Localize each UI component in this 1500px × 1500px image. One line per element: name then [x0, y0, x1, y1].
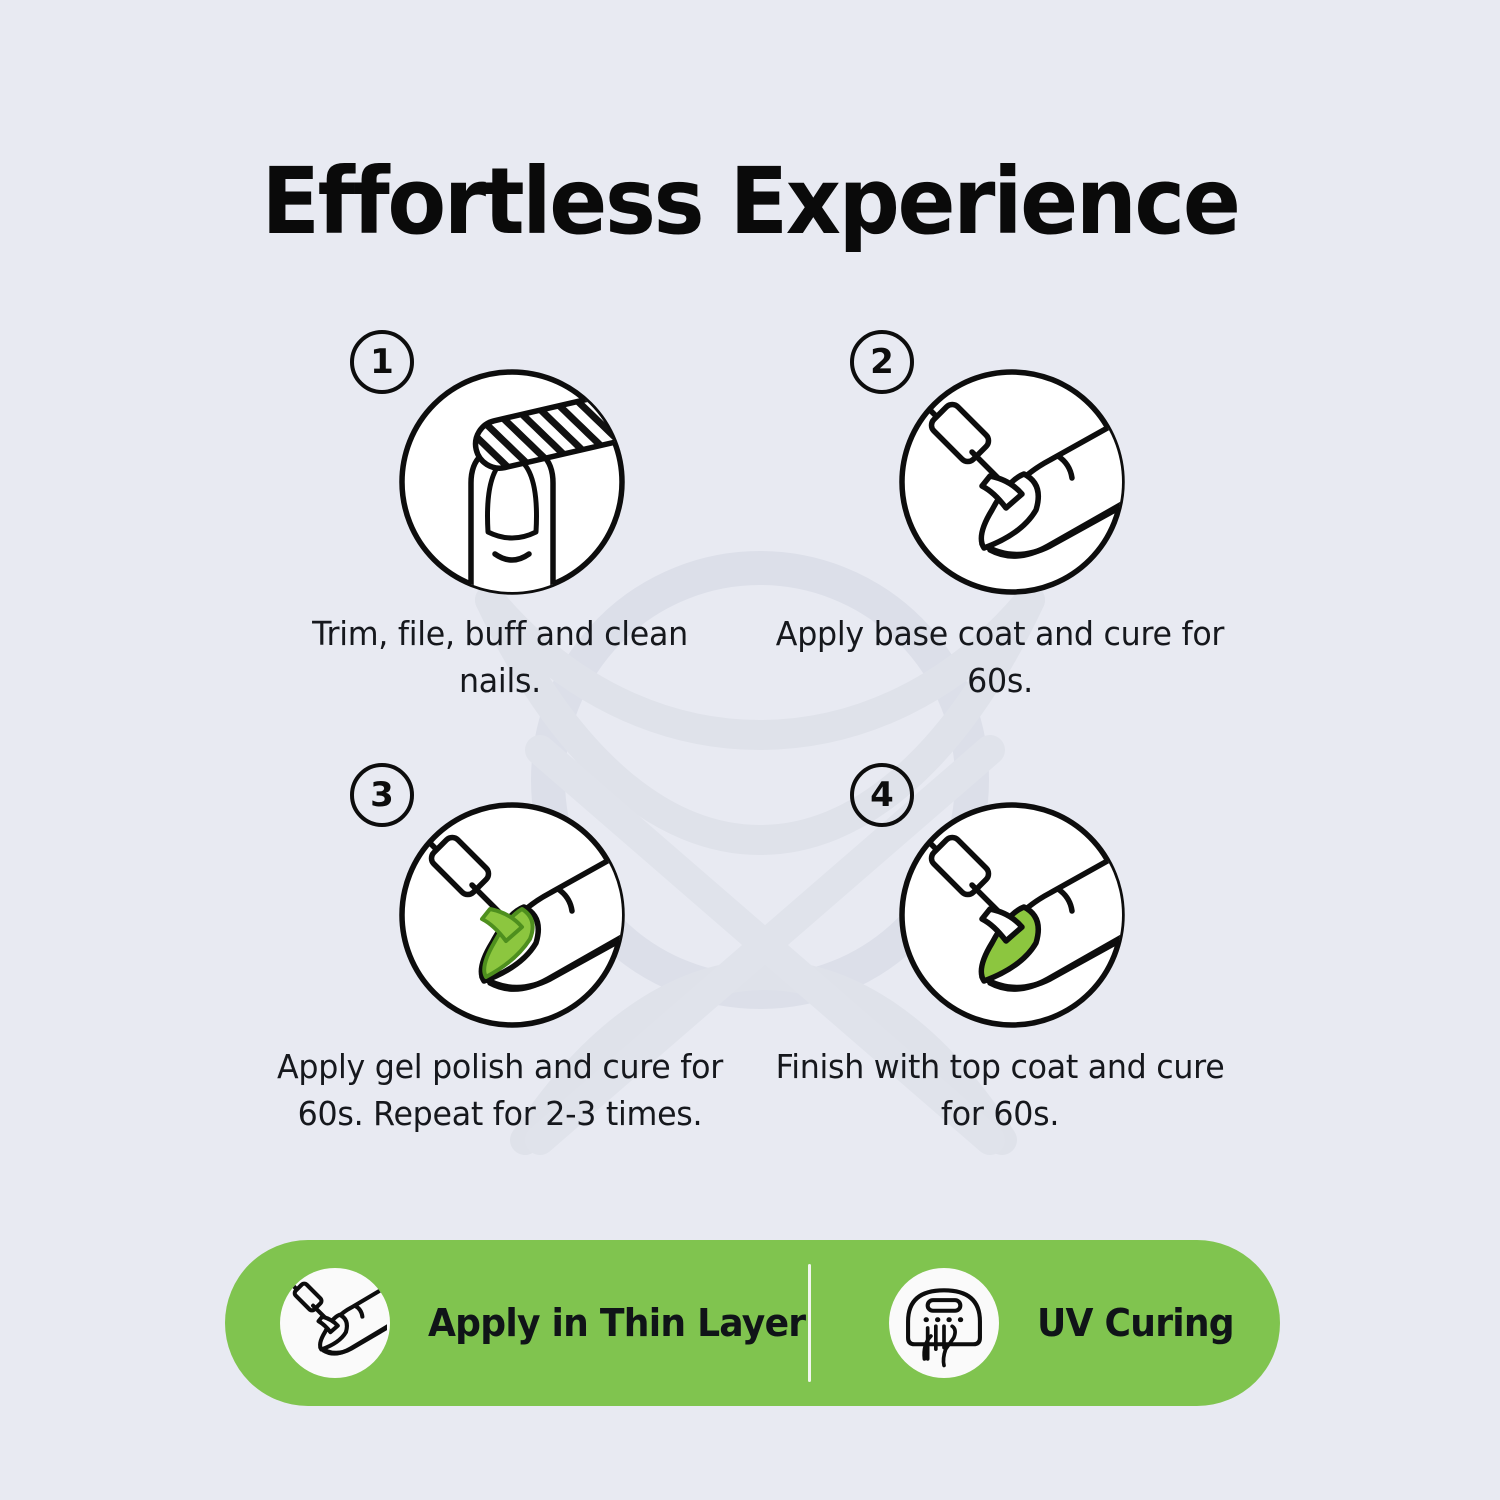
step-4-caption: Finish with top coat and cure for 60s. — [774, 1044, 1225, 1138]
step-item-2: 2 — [750, 330, 1250, 705]
tip-uv-curing[interactable]: UV Curing — [811, 1240, 1280, 1406]
step-4-number: 4 — [870, 778, 894, 812]
step-3-caption: Apply gel polish and cure for 60s. Repea… — [274, 1044, 725, 1138]
step-3-artwork: 3 — [350, 763, 650, 1028]
tips-banner: Apply in Thin Layer — [225, 1240, 1280, 1406]
step-item-4: 4 Finish with top coat a — [750, 763, 1250, 1138]
uv-lamp-icon — [895, 1274, 993, 1372]
step-4-number-badge: 4 — [850, 763, 914, 827]
step-2-number: 2 — [870, 345, 894, 379]
step-1-number: 1 — [370, 345, 394, 379]
brush-base-coat-icon — [898, 368, 1126, 596]
step-2-caption: Apply base coat and cure for 60s. — [774, 611, 1225, 705]
tip-label-uv-curing: UV Curing — [1037, 1301, 1234, 1345]
step-item-3: 3 — [250, 763, 750, 1138]
step-2-number-badge: 2 — [850, 330, 914, 394]
brush-top-coat-icon — [898, 801, 1126, 1029]
step-3-number-badge: 3 — [350, 763, 414, 827]
uv-lamp-icon-disc — [889, 1268, 999, 1378]
step-1-number-badge: 1 — [350, 330, 414, 394]
step-3-number: 3 — [370, 778, 394, 812]
steps-grid: 1 — [250, 330, 1250, 1137]
step-item-1: 1 — [250, 330, 750, 705]
nail-file-icon — [398, 368, 626, 596]
step-1-artwork: 1 — [350, 330, 650, 595]
tip-label-apply-thin-layer: Apply in Thin Layer — [428, 1301, 805, 1345]
brush-thin-layer-icon-disc — [280, 1268, 390, 1378]
step-1-caption: Trim, file, buff and clean nails. — [274, 611, 725, 705]
brush-gel-polish-icon — [398, 801, 626, 1029]
brush-thin-layer-icon — [283, 1271, 387, 1375]
tip-apply-thin-layer[interactable]: Apply in Thin Layer — [225, 1240, 808, 1406]
step-4-artwork: 4 — [850, 763, 1150, 1028]
step-2-artwork: 2 — [850, 330, 1150, 595]
page-title: Effortless Experience — [53, 148, 1448, 255]
